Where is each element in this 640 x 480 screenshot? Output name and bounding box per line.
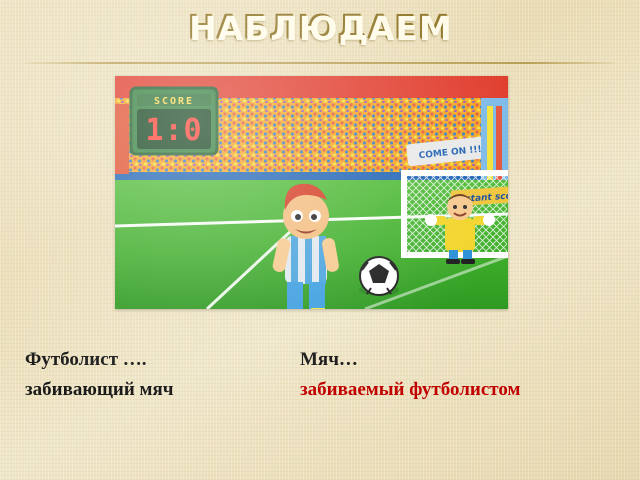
title-divider — [25, 62, 615, 64]
football-scene-illustration: COME ON !!! SCORE 1:0 — [115, 76, 508, 309]
right-line-2: забиваемый футболистом — [300, 375, 520, 405]
svg-text:1:0: 1:0 — [145, 113, 202, 148]
left-line-1: Футболист …. — [25, 345, 173, 375]
right-line-1: Мяч… — [300, 345, 520, 375]
text-column-left: Футболист …. забивающий мяч — [25, 345, 173, 405]
text-column-right: Мяч… забиваемый футболистом — [300, 345, 520, 405]
page-title: Наблюдаем — [188, 8, 452, 47]
svg-text:SCORE: SCORE — [154, 96, 194, 107]
slide: Наблюдаем — [0, 0, 640, 480]
scoreboard: SCORE 1:0 — [131, 88, 217, 154]
slide-image: COME ON !!! SCORE 1:0 — [115, 76, 508, 309]
left-line-2: забивающий мяч — [25, 375, 173, 405]
soccer-ball — [359, 257, 399, 296]
title-container: Наблюдаем — [0, 8, 640, 47]
